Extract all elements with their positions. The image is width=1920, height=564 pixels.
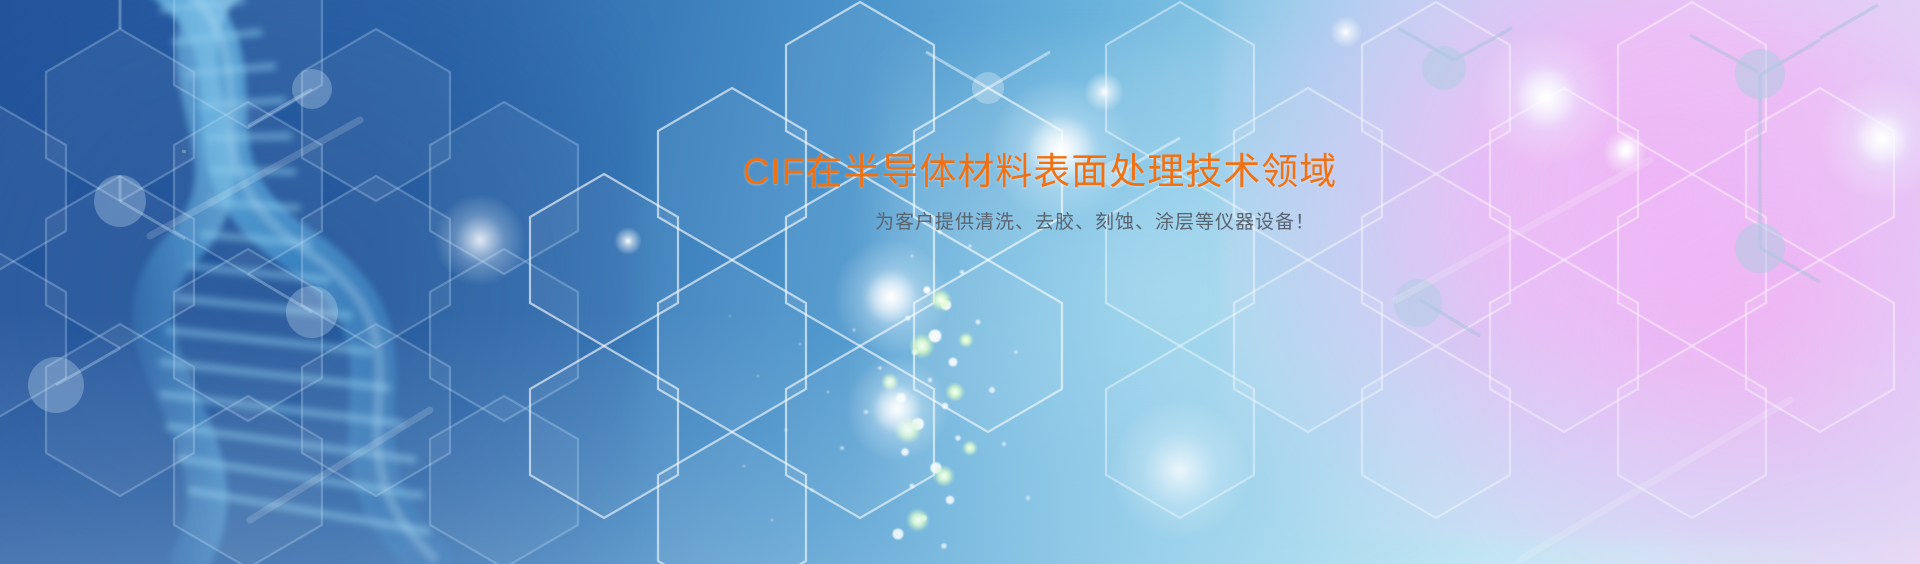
- banner-subheadline: 为客户提供清洗、去胶、刻蚀、涂层等仪器设备！: [160, 210, 1920, 237]
- banner-text-block: CIF在半导体材料表面处理技术领域 为客户提供清洗、去胶、刻蚀、涂层等仪器设备！: [0, 150, 1920, 237]
- bottom-fade-overlay: [0, 0, 1920, 564]
- banner-headline: CIF在半导体材料表面处理技术领域: [160, 150, 1920, 194]
- hero-banner: CIF在半导体材料表面处理技术领域 为客户提供清洗、去胶、刻蚀、涂层等仪器设备！: [0, 0, 1920, 564]
